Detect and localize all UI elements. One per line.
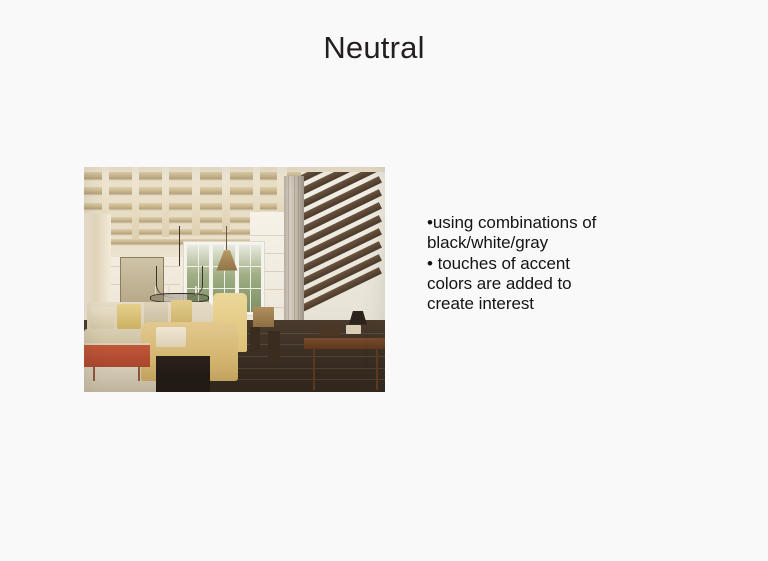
- photo-accent-table: [84, 343, 150, 368]
- photo-desk-box: [319, 325, 340, 336]
- photo-joist: [162, 167, 169, 237]
- slide-canvas: Neutral: [0, 0, 768, 561]
- photo-joist: [192, 167, 199, 235]
- photo-desk-leg: [313, 349, 316, 390]
- photo-console-table: [156, 356, 210, 392]
- photo-chandelier-rod: [179, 226, 181, 267]
- photo-pillow: [90, 307, 114, 330]
- photo-basket: [253, 307, 274, 327]
- bullet-line: create interest: [427, 294, 677, 314]
- photo-staircase: [301, 172, 385, 334]
- photo-joist: [132, 167, 139, 239]
- photo-desk: [304, 338, 385, 349]
- photo-table-leg: [93, 365, 95, 381]
- photo-chair: [250, 327, 261, 352]
- bullet-line: • touches of accent: [427, 254, 677, 274]
- photo-pendant-cord: [226, 226, 227, 251]
- bullet-line: colors are added to: [427, 274, 677, 294]
- photo-pillow: [171, 300, 192, 325]
- photo-joist: [222, 167, 229, 232]
- interior-photo-canvas: [84, 167, 385, 392]
- bullet-line: black/white/gray: [427, 233, 677, 253]
- interior-photo: [84, 167, 385, 392]
- photo-table-leg: [138, 365, 140, 381]
- photo-pillow: [117, 304, 141, 329]
- bullet-line: •using combinations of: [427, 213, 677, 233]
- page-title: Neutral: [0, 28, 748, 68]
- photo-pillow: [156, 327, 186, 347]
- photo-desk-object: [346, 325, 361, 334]
- bullet-text-block: •using combinations of black/white/gray …: [427, 213, 677, 314]
- photo-desk-leg: [376, 349, 379, 390]
- photo-chair: [268, 331, 280, 363]
